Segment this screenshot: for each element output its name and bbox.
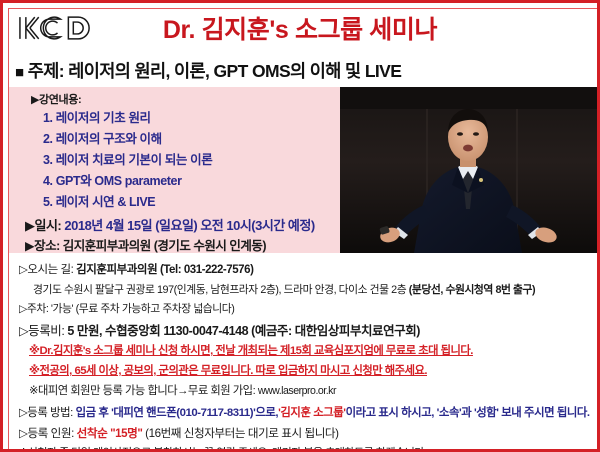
method-label: ▷등록 방법: [19,407,73,419]
agenda-list: 1. 레이저의 기초 원리 2. 레이저의 구조와 이해 3. 레이저 치료의 … [43,108,212,213]
directions-label: ▷오시는 길: [19,264,73,276]
event-datetime: ▶일시: 2018년 4월 15일 (일요일) 오전 10시(3시간 예정) [25,215,315,234]
speaker-photo [340,87,597,253]
method-part2: 이라고 표시 하시고, '소속'과 '성함' 보내 주시면 됩니다. [346,407,590,419]
footer-note: ※신청자 중 당일 개인사정으로 불참하시는 꼭 연락 주세요. 대기자 분을 … [19,443,589,452]
venue-label: ▶장소: [25,239,60,253]
address-bold: (분당선, 수원시청역 8번 출구) [409,284,535,296]
capacity-note: (16번째 신청자부터는 대기로 표시 됩니다) [145,427,338,440]
subject-line: ■ 주제: 레이저의 원리, 이론, GPT OMS의 이해 및 LIVE [15,58,401,83]
list-item: 2. 레이저의 구조와 이해 [43,129,212,150]
seminar-poster: Dr. 김지훈's 소그룹 세미나 ■ 주제: 레이저의 원리, 이론, GPT… [0,0,600,452]
notice-symposium-text: ※Dr.김지훈's 소그룹 세미나 신청 하시면, 전날 개최되는 제15회 교… [29,345,473,357]
membership-url[interactable]: www.laserpro.or.kr [258,385,336,397]
agenda-band: ▶강연내용: 1. 레이저의 기초 원리 2. 레이저의 구조와 이해 3. 레… [9,87,597,253]
fee-value: 5 만원, 수협중앙회 1130-0047-4148 (예금주: 대한임상피부치… [67,324,420,338]
event-venue: ▶장소: 김지훈피부과의원 (경기도 수원시 인계동) [25,235,266,254]
capacity-label: ▷등록 인원: [19,427,74,440]
poster-header: Dr. 김지훈's 소그룹 세미나 [3,3,597,53]
subject-text: 주제: 레이저의 원리, 이론, GPT OMS의 이해 및 LIVE [28,61,402,81]
address-line: 경기도 수원시 팔달구 권광로 197(인계동, 남현프라자 2층), 드라마 … [19,281,589,301]
details-block: ▷오시는 길: 김지훈피부과의원 (Tel: 031-222-7576) 경기도… [19,261,589,452]
subject-bullet: ■ [15,64,23,81]
fee-line: ▷등록비: 5 만원, 수협중앙회 1130-0047-4148 (예금주: 대… [19,322,589,342]
notice-free-groups-text: ※전공의, 65세 이상, 공보의, 군의관은 무료입니다. 따로 입금하지 마… [29,365,427,377]
registration-method-line: ▷등록 방법: 입금 후 '대피연 핸드폰(010-7117-8311)'으로,… [19,404,589,424]
datetime-value: 2018년 4월 15일 (일요일) 오전 10시(3시간 예정) [64,218,314,233]
method-highlight: '김지훈 소그룹' [278,407,345,419]
capacity-value: 선착순 "15명" [77,427,143,440]
notice-membership: ※대피연 회원만 등록 가능 합니다→무료 회원 가입: www.laserpr… [19,381,589,401]
datetime-label: ▶일시: [25,218,61,233]
notice-free-groups: ※전공의, 65세 이상, 공보의, 군의관은 무료입니다. 따로 입금하지 마… [19,361,589,381]
directions-line: ▷오시는 길: 김지훈피부과의원 (Tel: 031-222-7576) [19,261,589,281]
list-item: 3. 레이저 치료의 기본이 되는 이론 [43,150,212,171]
list-item: 5. 레이저 시연 & LIVE [43,192,212,213]
membership-text: ※대피연 회원만 등록 가능 합니다→무료 회원 가입: [29,385,255,397]
venue-value: 김지훈피부과의원 (경기도 수원시 인계동) [63,239,266,253]
poster-title: Dr. 김지훈's 소그룹 세미나 [3,10,597,46]
address-main: 경기도 수원시 팔달구 권광로 197(인계동, 남현프라자 2층), 드라마 … [33,284,406,296]
list-item: 1. 레이저의 기초 원리 [43,108,212,129]
agenda-heading: ▶강연내용: [31,91,81,107]
agenda-column: ▶강연내용: 1. 레이저의 기초 원리 2. 레이저의 구조와 이해 3. 레… [9,87,340,253]
capacity-line: ▷등록 인원: 선착순 "15명" (16번째 신청자부터는 대기로 표시 됩니… [19,424,589,444]
notice-symposium: ※Dr.김지훈's 소그룹 세미나 신청 하시면, 전날 개최되는 제15회 교… [19,341,589,361]
parking-line: ▷주차: '가능' (무료 주차 가능하고 주차장 넓습니다) [19,300,589,320]
fee-label: ▷등록비: [19,324,64,338]
list-item: 4. GPT와 OMS parameter [43,171,212,192]
directions-value: 김지훈피부과의원 (Tel: 031-222-7576) [76,264,253,276]
method-part1: 입금 후 '대피연 핸드폰(010-7117-8311)'으로, [76,407,279,419]
